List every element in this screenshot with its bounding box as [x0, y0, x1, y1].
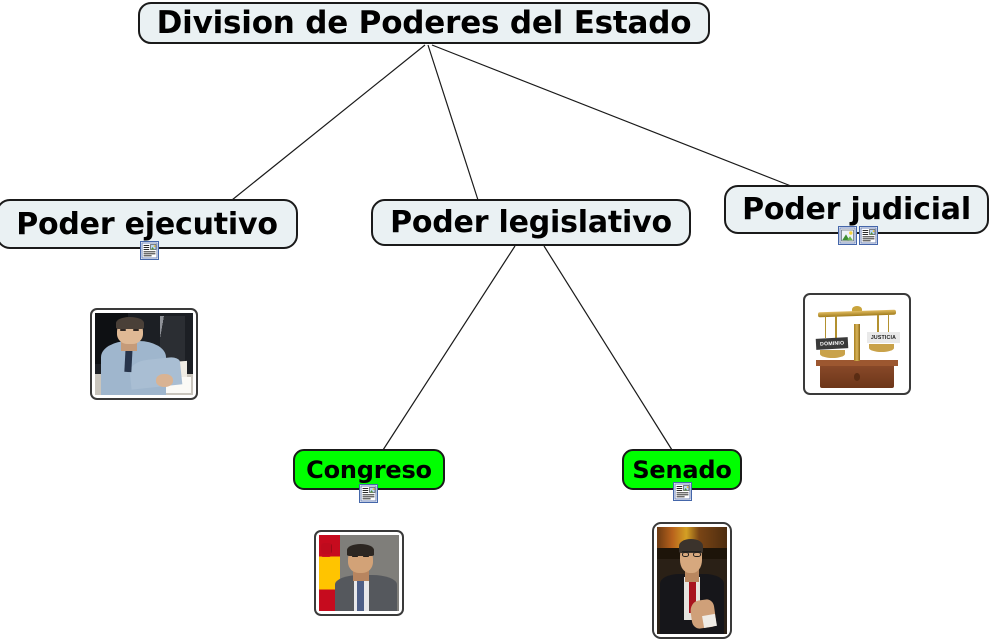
edge-root-to-judicial [432, 45, 791, 186]
attachment-strip-poder-judicial [838, 226, 878, 245]
node-senado-label: Senado [632, 456, 731, 484]
node-poder-judicial-label: Poder judicial [742, 192, 971, 227]
node-root[interactable]: Division de Poderes del Estado [138, 2, 710, 44]
photo-portrait-with-spanish-flag [319, 535, 399, 611]
image-poder-judicial[interactable]: DOMINIO JUSTICIA [803, 293, 911, 395]
image-poder-ejecutivo[interactable] [90, 308, 198, 400]
note-icon[interactable] [359, 484, 378, 503]
node-congreso-label: Congreso [306, 456, 432, 484]
edge-legislativo-to-congreso [383, 246, 515, 450]
scale-label-right: JUSTICIA [867, 332, 900, 343]
edge-root-to-ejecutivo [232, 45, 425, 200]
note-icon[interactable] [140, 241, 159, 260]
attachment-strip-senado [673, 482, 692, 501]
edge-root-to-legislativo [428, 45, 478, 200]
photo-man-at-desk [95, 313, 193, 395]
node-poder-legislativo[interactable]: Poder legislativo [371, 199, 691, 246]
photo-scales-of-justice: DOMINIO JUSTICIA [808, 298, 906, 390]
note-icon[interactable] [859, 226, 878, 245]
image-senado[interactable] [652, 522, 732, 639]
image-congreso[interactable] [314, 530, 404, 616]
photo-man-red-tie [657, 527, 727, 634]
attachment-strip-poder-ejecutivo [140, 241, 159, 260]
attachment-strip-congreso [359, 484, 378, 503]
scale-label-left: DOMINIO [816, 338, 849, 351]
node-root-label: Division de Poderes del Estado [157, 5, 692, 41]
edge-legislativo-to-senado [544, 246, 672, 450]
picture-icon[interactable] [838, 226, 857, 245]
node-poder-ejecutivo-label: Poder ejecutivo [16, 207, 278, 242]
mindmap-canvas: Division de Poderes del Estado Poder eje… [0, 0, 991, 639]
node-poder-legislativo-label: Poder legislativo [390, 205, 672, 240]
note-icon[interactable] [673, 482, 692, 501]
